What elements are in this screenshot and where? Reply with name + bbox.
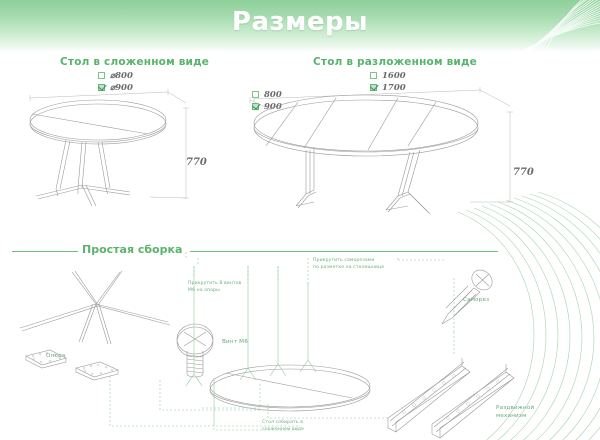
note-assemble-folded: Стол собирать в сложенном виде bbox=[262, 420, 304, 433]
part-label-bolt: Винт М6 bbox=[222, 338, 248, 346]
option-label-length-1600: 1600 bbox=[382, 71, 406, 81]
assembly-tabletop-ellipse bbox=[210, 365, 370, 411]
option-row-diameter-800[interactable]: ⌀800 bbox=[98, 70, 133, 81]
table-legs-unfolded bbox=[296, 148, 430, 214]
width-dimension-line bbox=[30, 89, 168, 101]
folded-table-drawing bbox=[20, 84, 200, 214]
divider-line-left bbox=[12, 251, 78, 252]
unfolded-height-label: 770 bbox=[513, 167, 534, 178]
option-row-length-1600[interactable]: 1600 bbox=[370, 70, 406, 81]
support-legs-part bbox=[20, 271, 170, 380]
self-tapper-screw-icon bbox=[442, 266, 496, 324]
slide-mechanism-part bbox=[388, 358, 514, 438]
part-label-support: Опора bbox=[46, 352, 65, 360]
bolt-m6-icon bbox=[177, 324, 213, 377]
page-header: Размеры bbox=[0, 0, 600, 52]
part-label-self-tapper: Саморез bbox=[463, 296, 489, 304]
poster-page: Размеры Стол в сложенном виде Стол в раз… bbox=[0, 0, 600, 440]
part-label-slide-mechanism: Раздвижной механизм bbox=[496, 404, 534, 421]
option-label-diameter-800: ⌀800 bbox=[110, 71, 133, 81]
height-dimension-line bbox=[150, 108, 189, 198]
section-title-folded: Стол в сложенном виде bbox=[60, 56, 209, 68]
note-screws-m6: Прикрутить 8 винтов М6 на опоры bbox=[188, 281, 241, 294]
page-title: Размеры bbox=[0, 7, 600, 37]
table-top-oval bbox=[254, 95, 478, 156]
height-dimension-line-2 bbox=[470, 112, 513, 202]
unfolded-table-drawing bbox=[248, 84, 538, 214]
checkbox-icon-length-1600[interactable] bbox=[370, 72, 377, 79]
assembly-section-header: Простая сборка bbox=[0, 243, 600, 259]
divider-line-right bbox=[190, 251, 498, 252]
table-legs bbox=[36, 140, 130, 206]
assembly-section-title: Простая сборка bbox=[82, 243, 182, 256]
folded-height-label: 770 bbox=[186, 157, 207, 168]
section-title-unfolded: Стол в разложенном виде bbox=[313, 56, 477, 68]
note-self-tappers: Прикрутить саморезами по разметке на сто… bbox=[313, 258, 384, 271]
checkbox-icon-diameter-800[interactable] bbox=[98, 72, 105, 79]
table-top-ellipse bbox=[30, 100, 166, 144]
